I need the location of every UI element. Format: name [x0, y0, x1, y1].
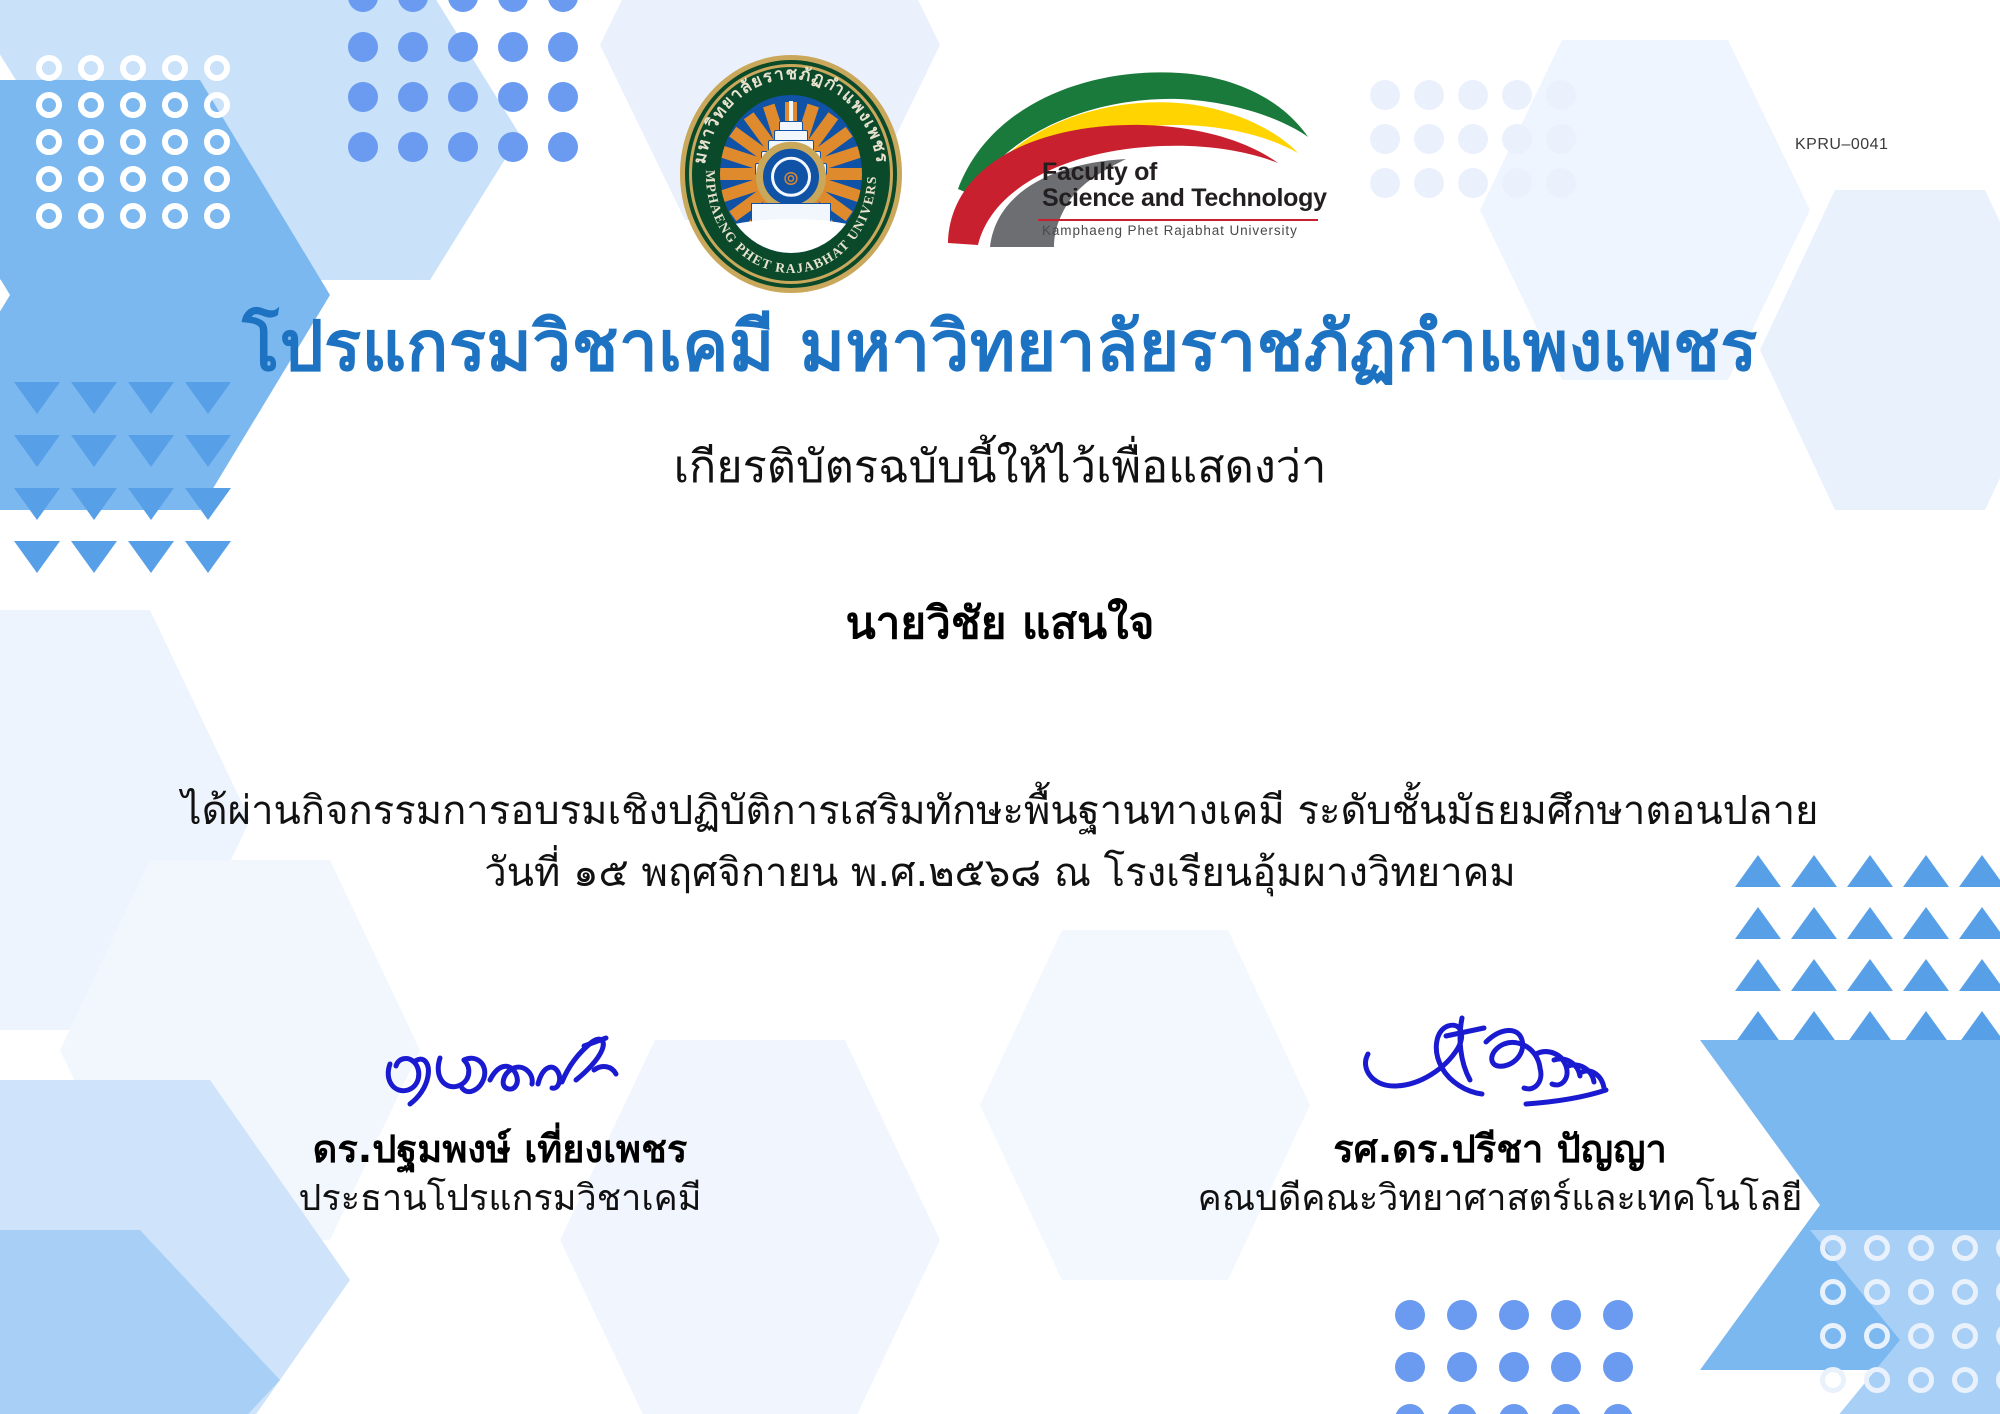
faculty-logo-line1: Faculty of [1042, 159, 1327, 185]
signature-row: ดร.ปฐมพงษ์ เที่ยงเพชร ประธานโปรแกรมวิชาเ… [0, 1020, 2000, 1221]
handwritten-signature-icon [370, 1024, 630, 1120]
signature-block-right: รศ.ดร.ปรีชา ปัญญา คณบดีคณะวิทยาศาสตร์และ… [1000, 1020, 2000, 1221]
certificate-title: โปรแกรมวิชาเคมี มหาวิทยาลัยราชภัฏกำแพงเพ… [0, 310, 2000, 386]
handwritten-signature-icon [1350, 1010, 1650, 1120]
signature-mark-right [1000, 1020, 2000, 1120]
signature-mark-left [0, 1020, 1000, 1120]
signer-name: รศ.ดร.ปรีชา ปัญญา [1000, 1126, 2000, 1174]
certificate-page: KPRU–0041 มหาวิทยาลัยราชภัฏกำแพงเพชร KAM… [0, 0, 2000, 1414]
seal-cloud-base [720, 219, 862, 253]
certificate-body: ได้ผ่านกิจกรรมการอบรมเชิงปฏิบัติการเสริม… [0, 780, 2000, 904]
faculty-logo-rule [1038, 219, 1318, 221]
faculty-logo-title: Faculty of Science and Technology [1042, 159, 1327, 211]
signature-block-left: ดร.ปฐมพงษ์ เที่ยงเพชร ประธานโปรแกรมวิชาเ… [0, 1020, 1000, 1221]
seal-medallion-icon: ๏ [756, 142, 826, 212]
body-line-1: ได้ผ่านกิจกรรมการอบรมเชิงปฏิบัติการเสริม… [0, 780, 2000, 842]
logo-row: มหาวิทยาลัยราชภัฏกำแพงเพชร KAMPHAENG PHE… [0, 55, 2000, 293]
faculty-of-science-and-technology-logo-icon: Faculty of Science and Technology Kampha… [930, 67, 1320, 247]
kpru-university-seal-icon: มหาวิทยาลัยราชภัฏกำแพงเพชร KAMPHAENG PHE… [680, 55, 902, 293]
faculty-logo-line2: Science and Technology [1042, 185, 1327, 211]
recipient-name: นายวิชัย แสนใจ [0, 598, 2000, 651]
faculty-logo-subtitle: Kamphaeng Phet Rajabhat University [1042, 223, 1298, 238]
seal-inner-emblem: ๏ [720, 95, 862, 253]
body-line-2: วันที่ ๑๕ พฤศจิกายน พ.ศ.๒๕๖๘ ณ โรงเรียนอ… [0, 842, 2000, 904]
seal-medallion-glyph: ๏ [771, 157, 811, 197]
signer-name: ดร.ปฐมพงษ์ เที่ยงเพชร [0, 1126, 1000, 1174]
signer-role: ประธานโปรแกรมวิชาเคมี [0, 1176, 1000, 1221]
certificate-subtitle: เกียรติบัตรฉบับนี้ให้ไว้เพื่อแสดงว่า [0, 440, 2000, 494]
signer-role: คณบดีคณะวิทยาศาสตร์และเทคโนโลยี [1000, 1176, 2000, 1221]
